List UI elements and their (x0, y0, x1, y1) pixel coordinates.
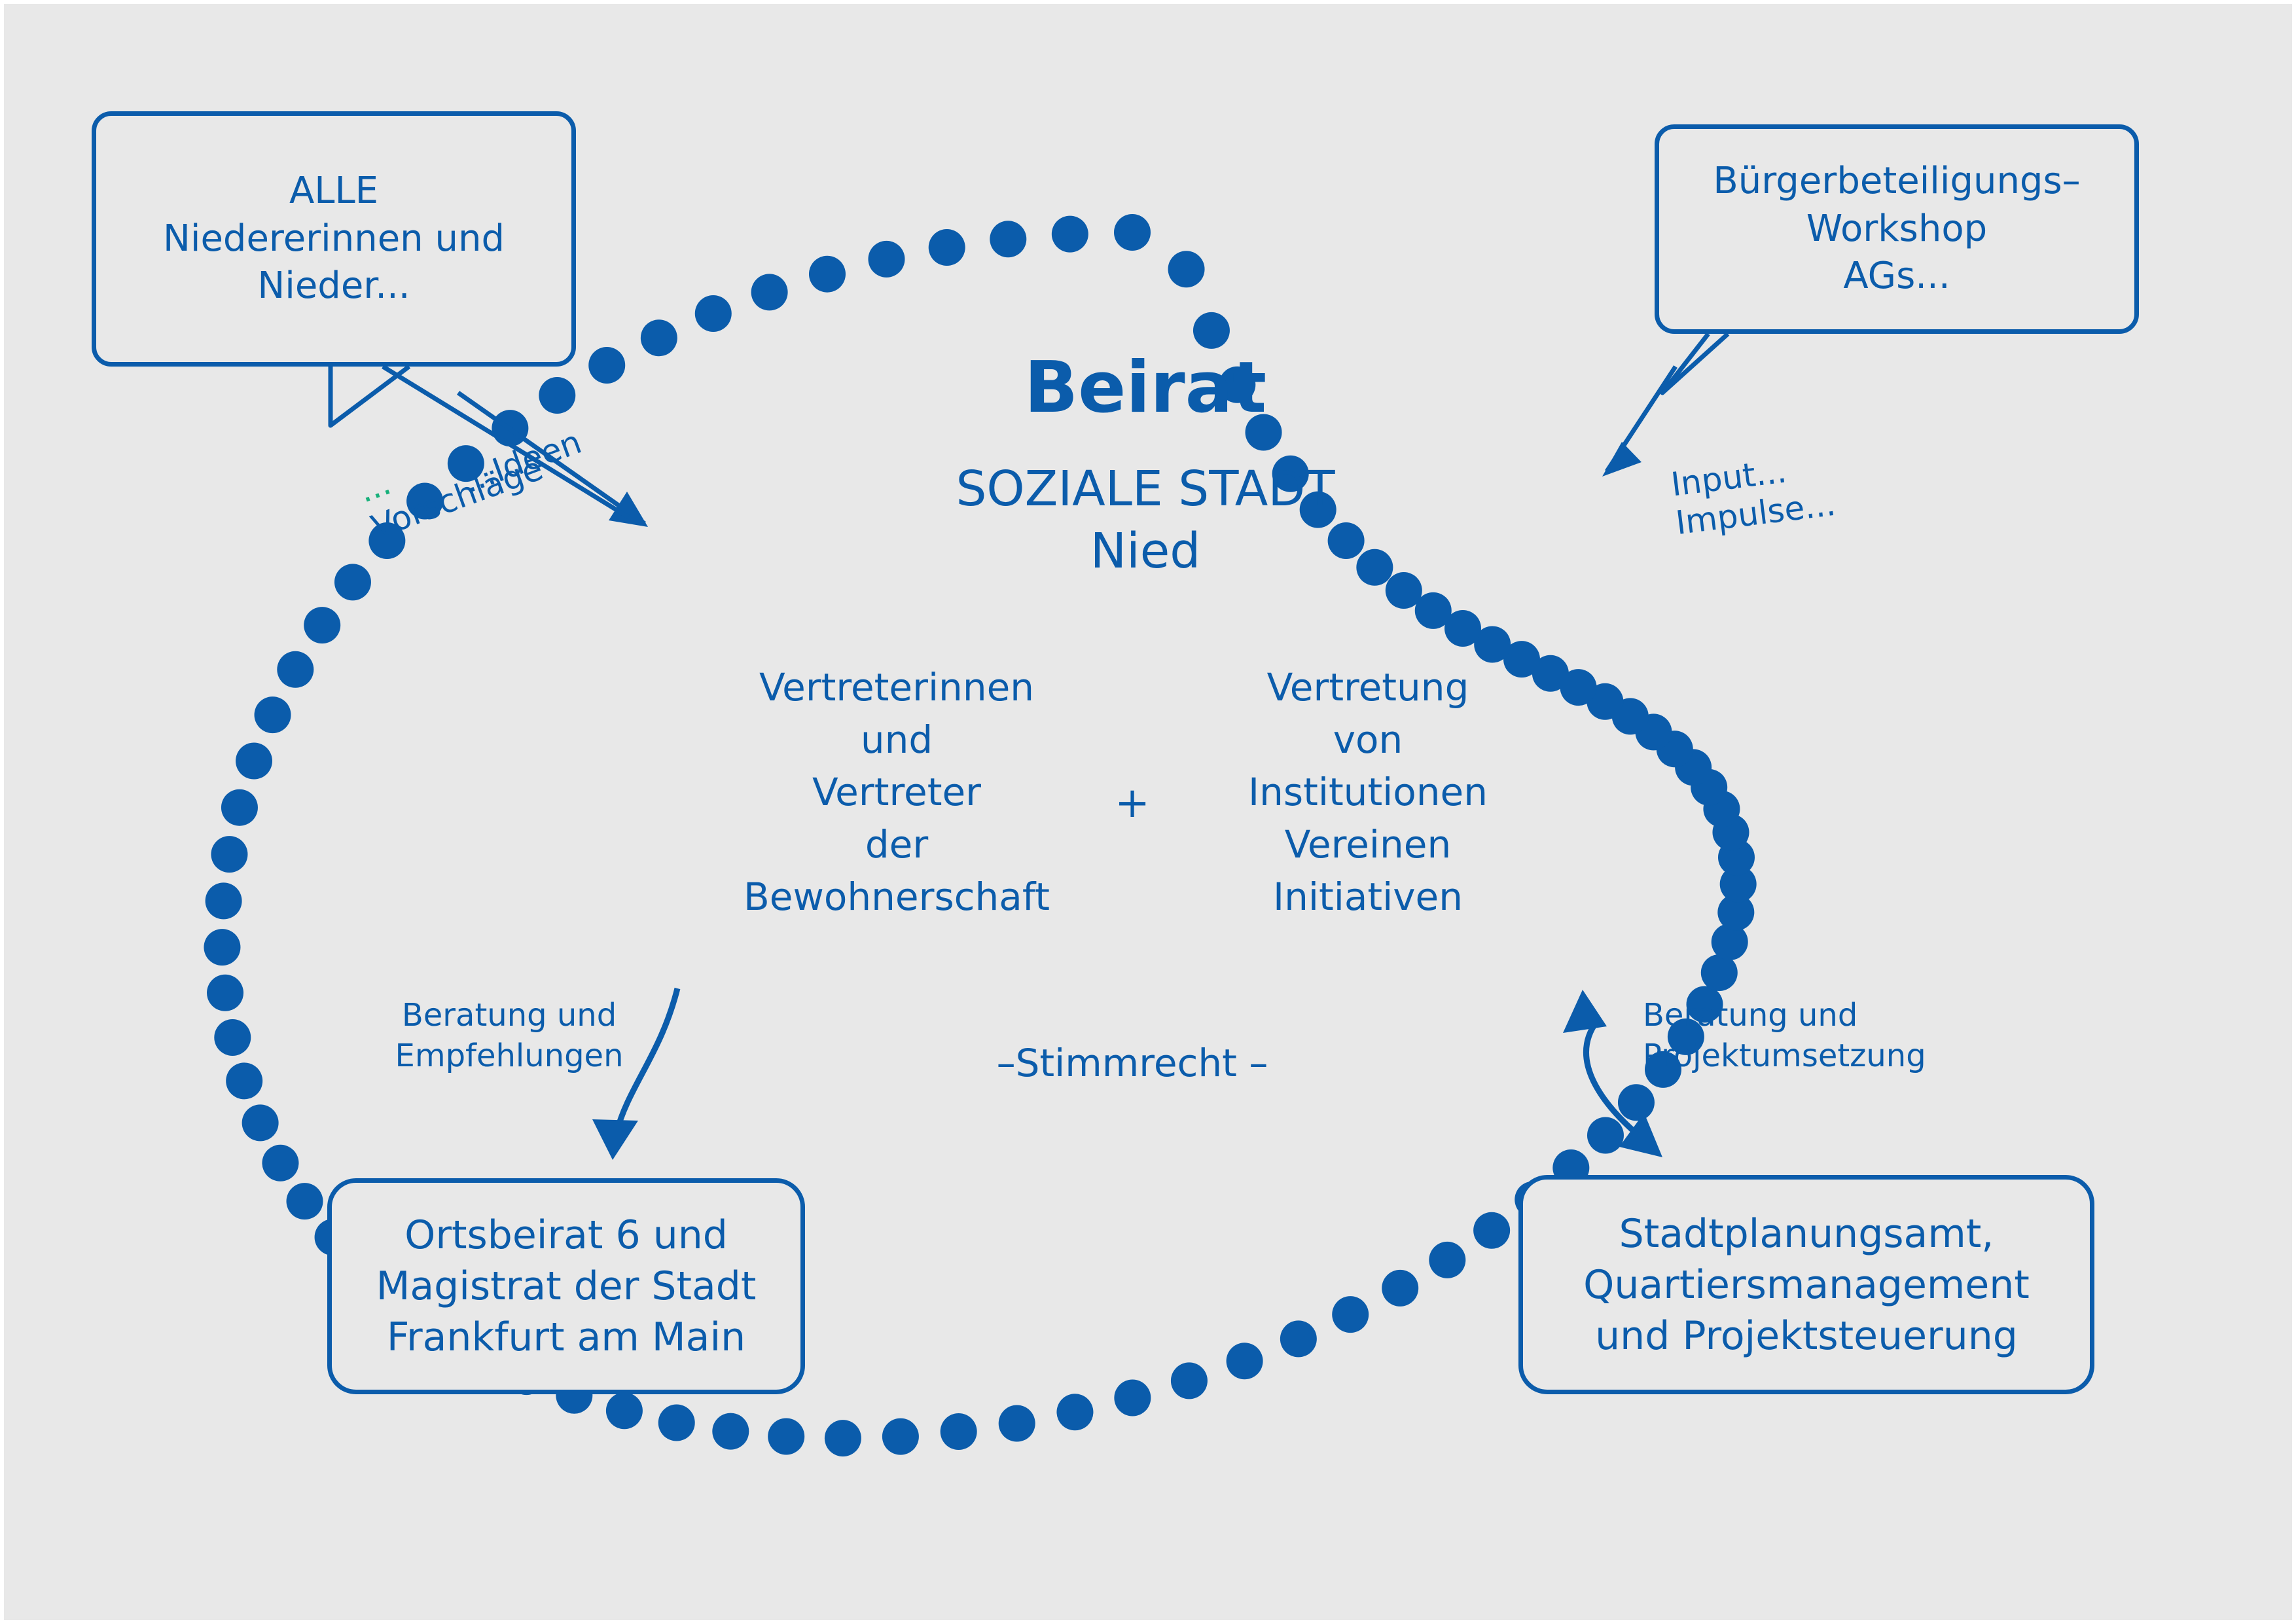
callout-top-left[interactable]: ALLE Niedererinnen und Nieder... (92, 111, 576, 367)
diagram-canvas: ALLE Niedererinnen und Nieder... Bürgerb… (0, 0, 2296, 1624)
label-beratung-empfehlungen: Beratung und Empfehlungen (378, 995, 640, 1077)
callout-bottom-right[interactable]: Stadtplanungsamt, Quartiersmanagement un… (1518, 1175, 2094, 1394)
diagram-subtitle: SOZIALE STADT Nied (720, 458, 1571, 582)
label-beratung-projektumsetzung: Beratung und Projektumsetzung (1643, 995, 1983, 1077)
plus-symbol: + (1086, 779, 1178, 827)
center-right-column: Vertretung von Institutionen Vereinen In… (1178, 661, 1558, 923)
diagram-title: Beirat (720, 347, 1571, 429)
center-left-column: Vertreterinnen und Vertreter der Bewohne… (707, 661, 1086, 923)
arrow-input (1602, 334, 1728, 477)
voting-note: –Stimmrecht – (890, 1041, 1374, 1085)
callout-bottom-left[interactable]: Ortsbeirat 6 und Magistrat der Stadt Fra… (327, 1178, 805, 1394)
callout-top-right[interactable]: Bürgerbeteiligungs– Workshop AGs... (1655, 124, 2139, 334)
